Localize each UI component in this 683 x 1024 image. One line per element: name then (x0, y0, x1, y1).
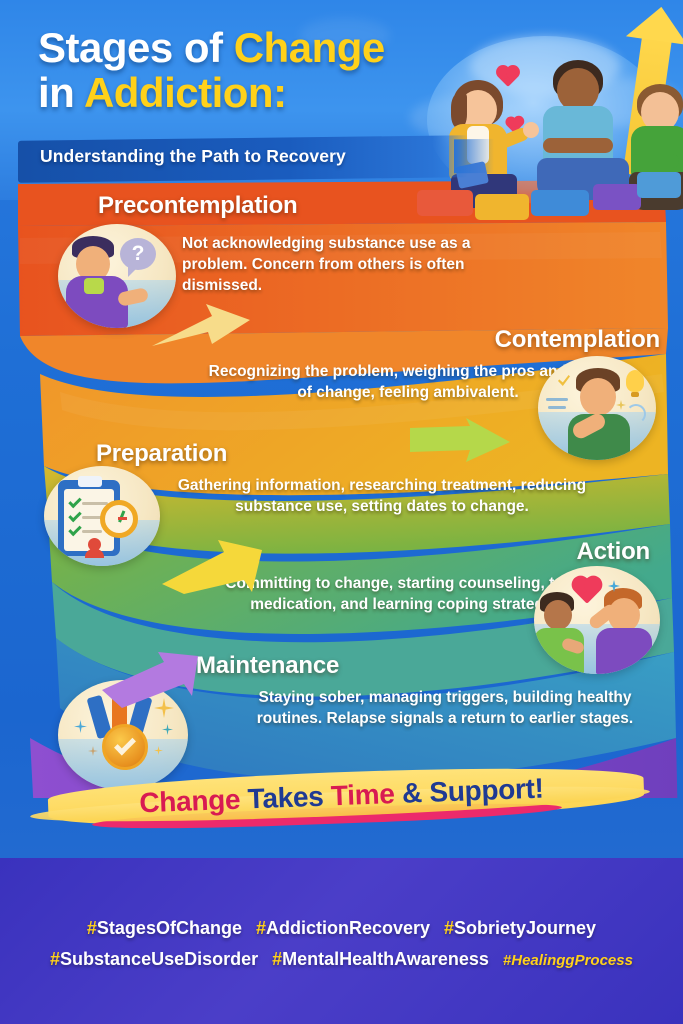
page-subtitle: Understanding the Path to Recovery (40, 146, 346, 167)
title-line2-accent: Addiction: (84, 69, 287, 116)
hashtag-footer: #StagesOfChange #AddictionRecovery #Sobr… (0, 858, 683, 1024)
arrow-stage-2-to-3 (408, 418, 518, 476)
hashtag-healing-process[interactable]: #HealinggProcess (503, 952, 633, 969)
banner-part-4: & Support! (394, 773, 544, 809)
banner-part-3: Time (330, 778, 395, 811)
infographic-poster: Stages of Change in Addiction: Understan… (0, 0, 683, 1024)
stage-text-precontemplation: Not acknowledging substance use as a pro… (182, 234, 532, 296)
stage-text-maintenance: Staying sober, managing triggers, buildi… (234, 688, 656, 730)
title-line2-white: in (38, 69, 84, 116)
hashtag[interactable]: #StagesOfChange (87, 918, 242, 939)
puzzle-piece (475, 194, 529, 220)
puzzle-piece (531, 190, 589, 216)
hashtag[interactable]: #SobrietyJourney (444, 918, 596, 939)
title-line1-accent: Change (234, 24, 385, 71)
question-mark-icon: ? (120, 238, 156, 270)
sparkle-icon (74, 720, 87, 733)
check-icon (558, 374, 570, 386)
sparkle-icon (162, 724, 173, 735)
puzzle-piece (637, 172, 681, 198)
arrow-stage-4-to-5 (98, 650, 208, 710)
hashtag-row-1: #StagesOfChange #AddictionRecovery #Sobr… (87, 918, 596, 939)
puzzle-piece (417, 190, 473, 216)
page-title: Stages of Change in Addiction: (38, 26, 458, 115)
arrow-stage-3-to-4 (160, 532, 272, 594)
hashtag-row-2: #SubstanceUseDisorder #MentalHealthAware… (50, 949, 633, 970)
user-icon (88, 538, 101, 551)
stage-text-preparation: Gathering information, researching treat… (160, 476, 604, 518)
clock-icon (100, 500, 138, 538)
star-icon (616, 400, 626, 410)
stage-title-contemplation: Contemplation (200, 326, 660, 354)
person-thinking-lightbulb-icon (538, 356, 656, 460)
hashtag[interactable]: #MentalHealthAwareness (272, 949, 489, 970)
closing-banner: Change Takes Time & Support! (0, 762, 683, 854)
heart-icon (574, 578, 599, 603)
hashtag[interactable]: #AddictionRecovery (256, 918, 430, 939)
title-line1-white: Stages of (38, 24, 234, 71)
puzzle-piece (593, 184, 641, 210)
hashtag[interactable]: #SubstanceUseDisorder (50, 949, 258, 970)
lightbulb-icon (626, 370, 644, 392)
banner-part-2: Takes (240, 780, 332, 814)
swirl-icon (626, 404, 646, 424)
banner-part-1: Change (139, 784, 241, 819)
clipboard-checklist-clock-icon (44, 466, 160, 566)
arrow-stage-1-to-2 (150, 298, 260, 358)
two-people-counseling-heart-icon (534, 566, 660, 674)
